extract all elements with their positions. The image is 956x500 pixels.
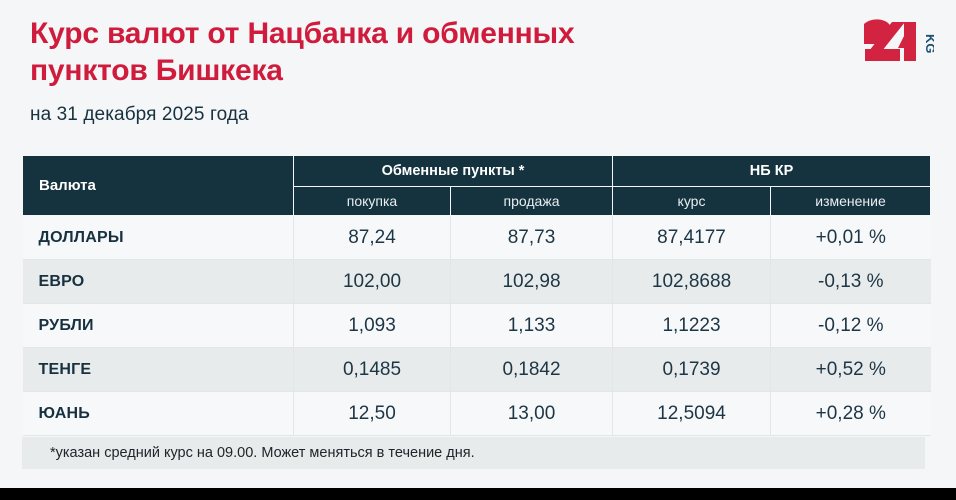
cell-change: +0,52 % [771, 348, 931, 392]
footnote-text: *указан средний курс на 09.00. Может мен… [22, 445, 475, 461]
infographic-page: Курс валют от Нацбанка и обменных пункто… [0, 0, 956, 500]
cell-change: +0,01 % [771, 216, 931, 260]
column-header-rate: курс [613, 187, 771, 216]
cell-rate: 0,1739 [613, 348, 771, 392]
cell-sell: 0,1842 [451, 348, 613, 392]
cell-buy: 87,24 [294, 216, 451, 260]
table-row: ЕВРО 102,00 102,98 102,8688 -0,13 % [23, 260, 931, 304]
cell-buy: 0,1485 [294, 348, 451, 392]
column-header-change: изменение [771, 187, 931, 216]
table-row: ДОЛЛАРЫ 87,24 87,73 87,4177 +0,01 % [23, 216, 931, 260]
cell-change: -0,13 % [771, 260, 931, 304]
cell-sell: 102,98 [451, 260, 613, 304]
column-header-buy: покупка [294, 187, 451, 216]
table-row: ЮАНЬ 12,50 13,00 12,5094 +0,28 % [23, 392, 931, 436]
rates-table-wrapper: Валюта Обменные пункты * НБ КР покупка п… [22, 155, 930, 436]
rates-table: Валюта Обменные пункты * НБ КР покупка п… [22, 155, 931, 436]
column-header-currency: Валюта [23, 156, 294, 216]
column-group-exchange-points: Обменные пункты * [294, 156, 613, 187]
cell-sell: 1,133 [451, 304, 613, 348]
cell-sell: 87,73 [451, 216, 613, 260]
footnote: *указан средний курс на 09.00. Может мен… [22, 437, 925, 469]
cell-buy: 12,50 [294, 392, 451, 436]
cell-change: +0,28 % [771, 392, 931, 436]
cell-currency-name: ЕВРО [23, 260, 294, 304]
cell-currency-name: ТЕНГЕ [23, 348, 294, 392]
cell-buy: 1,093 [294, 304, 451, 348]
cell-rate: 12,5094 [613, 392, 771, 436]
page-subtitle: на 31 декабря 2025 года [30, 104, 910, 126]
table-body: ДОЛЛАРЫ 87,24 87,73 87,4177 +0,01 % ЕВРО… [23, 216, 931, 436]
column-group-nbkr: НБ КР [613, 156, 931, 187]
bottom-bar [0, 488, 956, 500]
logo-24kg: KG [860, 18, 934, 70]
cell-currency-name: ДОЛЛАРЫ [23, 216, 294, 260]
cell-currency-name: РУБЛИ [23, 304, 294, 348]
cell-sell: 13,00 [451, 392, 613, 436]
cell-rate: 1,1223 [613, 304, 771, 348]
svg-text:KG: KG [923, 34, 934, 54]
page-header: Курс валют от Нацбанка и обменных пункто… [30, 16, 910, 126]
cell-change: -0,12 % [771, 304, 931, 348]
logo-24kg-icon: KG [860, 18, 934, 70]
cell-currency-name: ЮАНЬ [23, 392, 294, 436]
page-title: Курс валют от Нацбанка и обменных пункто… [30, 16, 650, 90]
cell-rate: 102,8688 [613, 260, 771, 304]
cell-buy: 102,00 [294, 260, 451, 304]
cell-rate: 87,4177 [613, 216, 771, 260]
table-header-group-row: Валюта Обменные пункты * НБ КР [23, 156, 931, 187]
table-head: Валюта Обменные пункты * НБ КР покупка п… [23, 156, 931, 216]
table-row: РУБЛИ 1,093 1,133 1,1223 -0,12 % [23, 304, 931, 348]
column-header-sell: продажа [451, 187, 613, 216]
table-row: ТЕНГЕ 0,1485 0,1842 0,1739 +0,52 % [23, 348, 931, 392]
